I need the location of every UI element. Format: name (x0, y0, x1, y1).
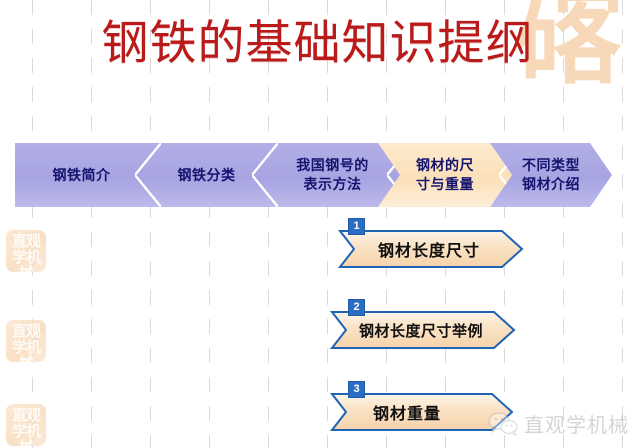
process-step-3-label: 我国钢号的 表示方法 (292, 156, 373, 194)
process-step-2-label: 钢铁分类 (174, 166, 240, 185)
detail-item-3[interactable]: 钢材重量 3 (332, 394, 512, 430)
process-step-4-line1: 钢材的尺 (416, 157, 474, 173)
detail-item-3-label: 钢材重量 (332, 400, 512, 424)
detail-item-1-label: 钢材长度尺寸 (340, 237, 522, 261)
decorative-seal-stamp: 直观学机械 (6, 320, 46, 362)
detail-item-2-number-badge: 2 (348, 299, 365, 316)
detail-arrow-1[interactable]: 钢材长度尺寸 (340, 231, 522, 267)
decorative-seal-stamp: 直观学机械 (6, 230, 46, 272)
process-step-5-label: 不同类型 钢材介绍 (518, 156, 584, 194)
process-step-1[interactable]: 钢铁简介 (15, 143, 148, 207)
seal-stamp-text: 直观学机械 (9, 233, 43, 269)
slide-canvas: 碦 直观学机械 直观学机械 直观学机械 钢铁的基础知识提纲 钢铁简介 钢铁分类 … (0, 0, 635, 448)
detail-arrow-2[interactable]: 钢材长度尺寸举例 (332, 312, 514, 348)
process-step-2[interactable]: 钢铁分类 (148, 143, 265, 207)
detail-item-1[interactable]: 钢材长度尺寸 1 (340, 231, 522, 267)
detail-item-2-label: 钢材长度尺寸举例 (332, 320, 514, 341)
decorative-seal-stamp: 直观学机械 (6, 404, 46, 446)
process-step-5-line1: 不同类型 (522, 157, 580, 173)
watermark: 直观学机械 (488, 409, 629, 438)
process-chevron-bar: 钢铁简介 钢铁分类 我国钢号的 表示方法 钢材的尺 寸与重量 不同类型 钢材介绍 (15, 143, 612, 207)
detail-item-1-number-badge: 1 (348, 218, 365, 235)
seal-stamp-text: 直观学机械 (9, 407, 43, 443)
watermark-text: 直观学机械 (524, 409, 629, 438)
process-step-5-line2: 钢材介绍 (522, 176, 580, 192)
process-step-3[interactable]: 我国钢号的 表示方法 (265, 143, 400, 207)
process-step-1-label: 钢铁简介 (49, 166, 115, 185)
detail-arrow-3[interactable]: 钢材重量 (332, 394, 512, 430)
process-step-3-line2: 表示方法 (304, 176, 362, 192)
process-step-4-line2: 寸与重量 (416, 176, 474, 192)
slide-title: 钢铁的基础知识提纲 (0, 14, 635, 74)
process-step-4-label: 钢材的尺 寸与重量 (412, 156, 478, 194)
seal-stamp-text: 直观学机械 (9, 323, 43, 359)
process-step-3-line1: 我国钢号的 (296, 157, 369, 173)
detail-item-3-number-badge: 3 (348, 381, 365, 398)
detail-item-2[interactable]: 钢材长度尺寸举例 2 (332, 312, 514, 348)
wechat-icon (488, 411, 518, 437)
